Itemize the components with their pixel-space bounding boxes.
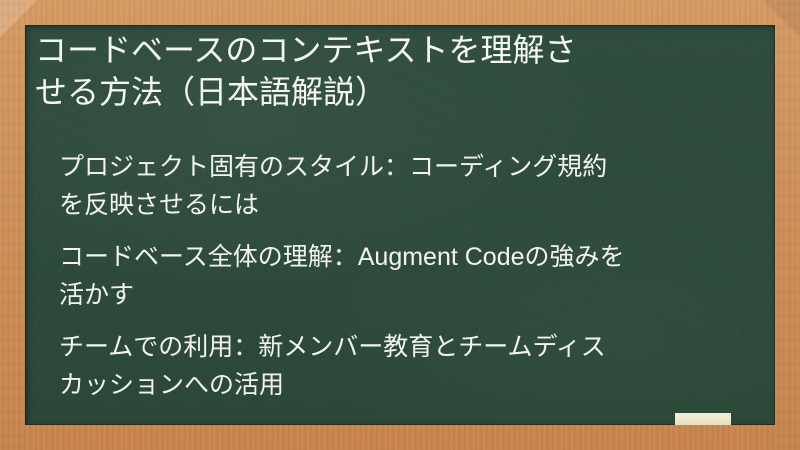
- bullet-list: プロジェクト固有のスタイル：コーディング規約 を反映させるには コードベース全体…: [59, 148, 759, 418]
- frame-grain-left: [0, 0, 24, 450]
- list-item: プロジェクト固有のスタイル：コーディング規約 を反映させるには: [59, 148, 759, 224]
- slide-content: コードベースのコンテキストを理解さ せる方法（日本語解説） プロジェクト固有のス…: [25, 25, 775, 425]
- chalk-eraser: [675, 413, 731, 425]
- chalkboard-slide: コードベースのコンテキストを理解さ せる方法（日本語解説） プロジェクト固有のス…: [0, 0, 800, 450]
- list-item: チームでの利用：新メンバー教育とチームディス カッションへの活用: [59, 328, 759, 404]
- list-item: コードベース全体の理解：Augment Codeの強みを 活かす: [59, 238, 759, 314]
- frame-grain-right: [776, 0, 800, 450]
- page-title: コードベースのコンテキストを理解さ せる方法（日本語解説）: [35, 29, 751, 113]
- chalkboard-surface: コードベースのコンテキストを理解さ せる方法（日本語解説） プロジェクト固有のス…: [25, 25, 775, 425]
